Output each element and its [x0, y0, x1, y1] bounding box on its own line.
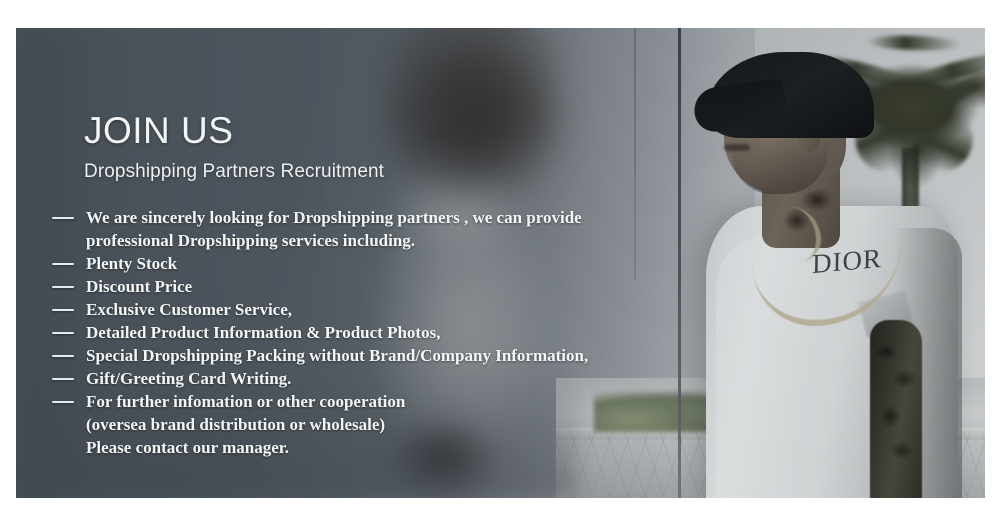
list-item: Plenty Stock [52, 252, 732, 275]
list-item-text: Discount Price [86, 275, 732, 298]
list-item: Discount Price [52, 275, 732, 298]
banner-copy: JOIN US Dropshipping Partners Recruitmen… [16, 28, 985, 498]
page-title: JOIN US [84, 112, 233, 149]
list-item-line: We are sincerely looking for Dropshippin… [86, 208, 582, 227]
list-item: Gift/Greeting Card Writing. [52, 367, 732, 390]
dash-marker-icon [52, 263, 74, 265]
dash-marker-icon [52, 378, 74, 380]
list-item: Special Dropshipping Packing without Bra… [52, 344, 732, 367]
dash-marker-icon [52, 332, 74, 334]
list-item-continuation: (oversea brand distribution or wholesale… [86, 413, 732, 436]
list-item-text: Plenty Stock [86, 252, 732, 275]
list-item-text: We are sincerely looking for Dropshippin… [86, 206, 732, 252]
dash-marker-icon [52, 286, 74, 288]
page-subtitle: Dropshipping Partners Recruitment [84, 162, 384, 181]
list-item: For further infomation or other cooperat… [52, 390, 732, 459]
list-item-text: Gift/Greeting Card Writing. [86, 367, 732, 390]
join-us-banner: DIOR JOIN US Dropshipping Partners Recru… [16, 28, 985, 498]
list-item-text: Exclusive Customer Service, [86, 298, 732, 321]
list-item: Detailed Product Information & Product P… [52, 321, 732, 344]
list-item-text: Special Dropshipping Packing without Bra… [86, 344, 732, 367]
list-item-text: For further infomation or other cooperat… [86, 390, 732, 459]
dash-marker-icon [52, 217, 74, 219]
list-item: We are sincerely looking for Dropshippin… [52, 206, 732, 252]
list-item-continuation-2: Please contact our manager. [86, 436, 732, 459]
benefits-list: We are sincerely looking for Dropshippin… [52, 206, 732, 459]
list-item-line: For further infomation or other cooperat… [86, 392, 405, 411]
list-item: Exclusive Customer Service, [52, 298, 732, 321]
dash-marker-icon [52, 355, 74, 357]
list-item-text: Detailed Product Information & Product P… [86, 321, 732, 344]
dash-marker-icon [52, 401, 74, 403]
list-item-continuation: professional Dropshipping services inclu… [86, 229, 732, 252]
dash-marker-icon [52, 309, 74, 311]
